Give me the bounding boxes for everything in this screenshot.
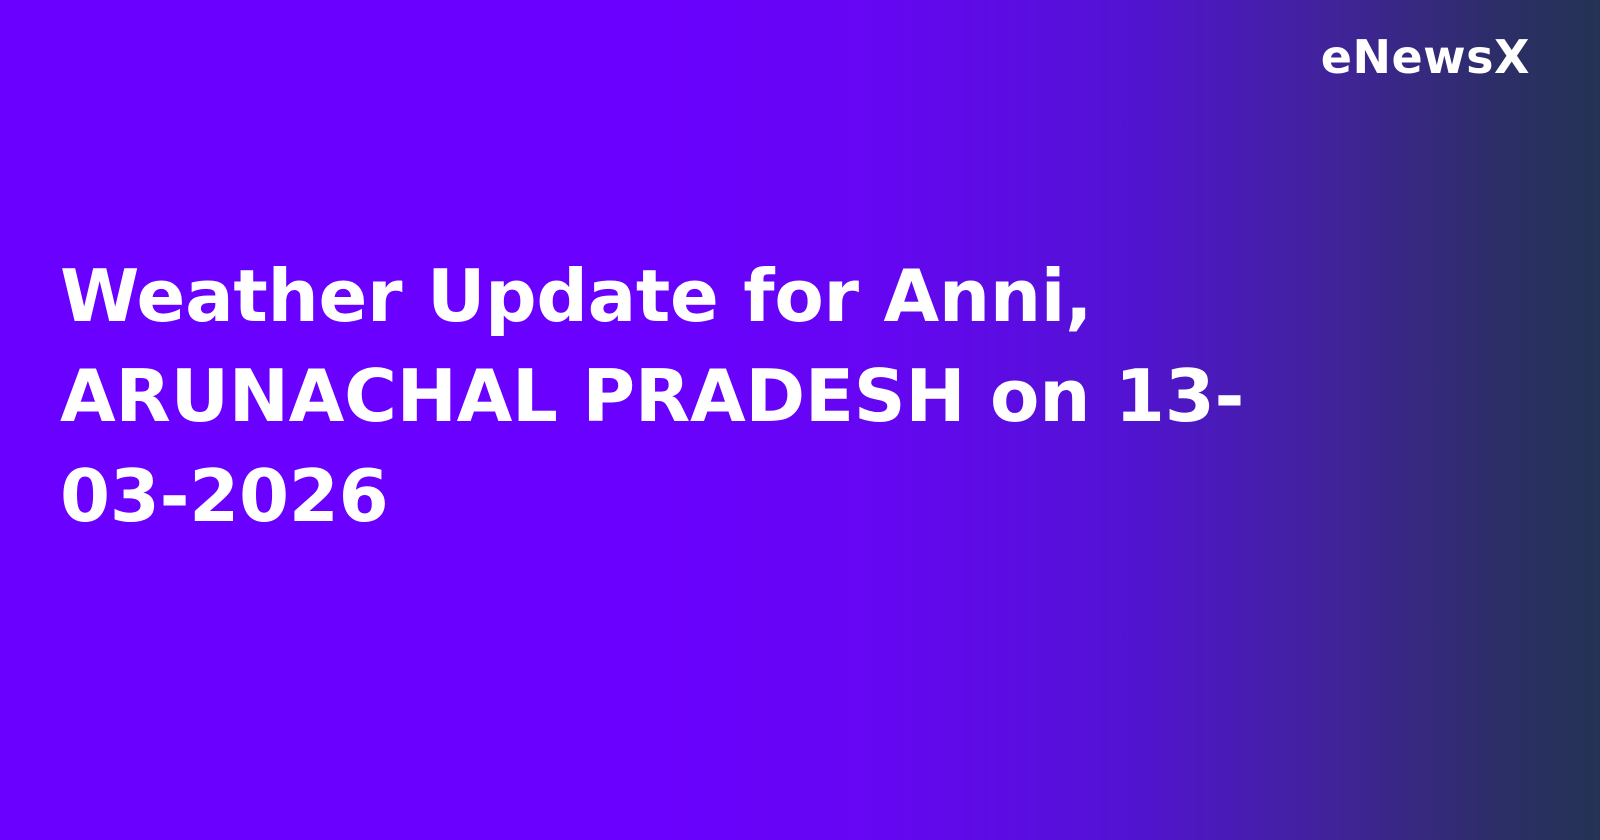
page-title: Weather Update for Anni, ARUNACHAL PRADE… (60, 246, 1282, 546)
brand-logo[interactable]: eNewsX (1321, 34, 1530, 80)
headline-block: Weather Update for Anni, ARUNACHAL PRADE… (60, 246, 1282, 546)
news-banner-card: eNewsX Weather Update for Anni, ARUNACHA… (0, 0, 1600, 840)
